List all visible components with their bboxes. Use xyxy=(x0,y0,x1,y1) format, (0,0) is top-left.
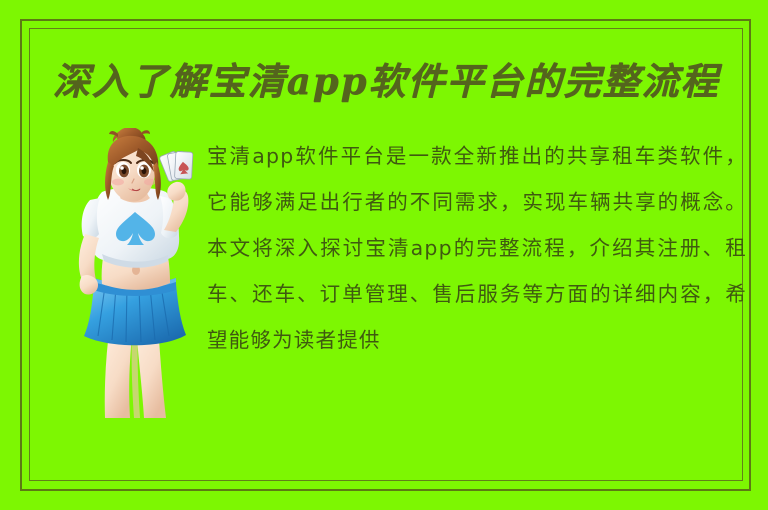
body-paragraph: 宝清app软件平台是一款全新推出的共享租车类软件，它能够满足出行者的不同需求，实… xyxy=(207,133,747,363)
page-title: 深入了解宝清app软件平台的完整流程 xyxy=(29,56,743,106)
character-illustration xyxy=(58,128,213,418)
body-text: 宝清app软件平台是一款全新推出的共享租车类软件，它能够满足出行者的不同需求，实… xyxy=(207,133,747,363)
promo-banner: 深入了解宝清app软件平台的完整流程 xyxy=(0,0,768,510)
